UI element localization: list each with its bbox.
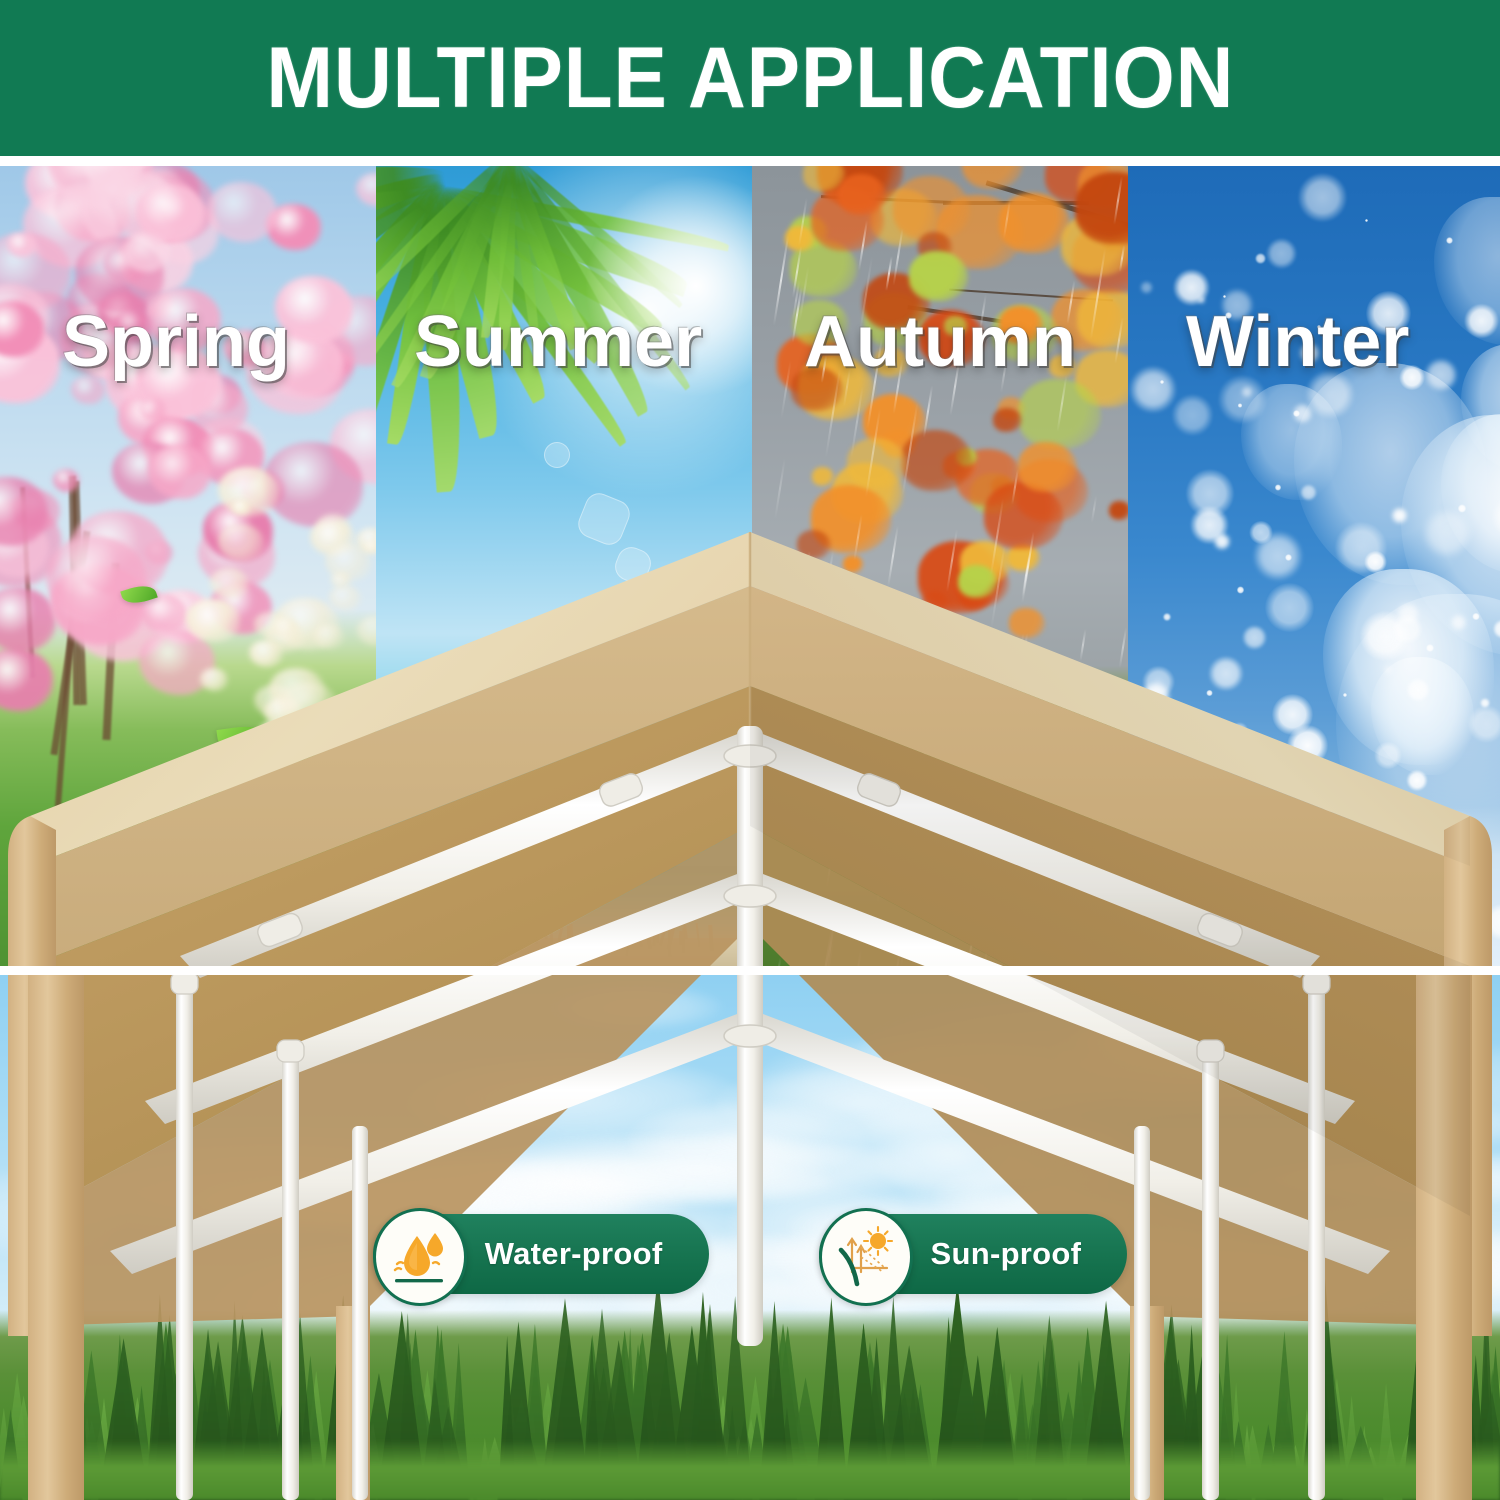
season-panel-summer: Summer: [376, 166, 752, 972]
blossom-cluster: [148, 445, 211, 498]
maple-leaf-cluster: [812, 467, 834, 485]
snow-bokeh: [1392, 614, 1422, 644]
blossom-cluster: [7, 233, 36, 257]
cloud: [824, 1102, 1070, 1199]
season-label-spring: Spring: [62, 306, 290, 378]
beach-post: [679, 931, 682, 945]
feature-badge-water-proof[interactable]: Water-proof: [373, 1208, 709, 1300]
blossom-cluster: [46, 536, 146, 621]
blossom-cluster-white: [329, 585, 361, 611]
blossom-cluster-white: [313, 729, 360, 766]
header-banner: MULTIPLE APPLICATION: [0, 0, 1500, 156]
snow-bokeh: [1129, 366, 1177, 414]
snow-bokeh: [1186, 469, 1235, 518]
snow-bokeh: [1298, 173, 1347, 222]
feature-badges: Water-proof: [0, 1196, 1500, 1312]
snow-bokeh: [1301, 808, 1316, 823]
snow-flake: [1472, 613, 1479, 620]
blossom-cluster-white: [325, 543, 372, 581]
season-panel-winter: Winter: [1128, 166, 1500, 972]
maple-leaf-cluster: [909, 251, 968, 301]
snow-flake: [1157, 860, 1162, 865]
sun-ray-shield-icon: [819, 1208, 913, 1306]
maple-leaf-cluster: [838, 174, 886, 215]
beach-post: [550, 929, 554, 949]
maple-leaf-cluster: [797, 530, 831, 559]
scene-divider: [0, 966, 1500, 975]
snow-bokeh: [1140, 281, 1152, 293]
snow-bokeh: [1300, 484, 1317, 501]
feature-badge-sun-proof[interactable]: Sun-proof: [819, 1208, 1128, 1300]
blossom-cluster-white: [232, 500, 250, 515]
snow-bokeh: [1231, 722, 1248, 739]
snow-bokeh: [1464, 304, 1498, 338]
snow-bokeh: [1422, 508, 1472, 558]
snow-flake: [1458, 504, 1467, 513]
snow-flake: [1323, 807, 1331, 815]
season-label-autumn: Autumn: [804, 306, 1076, 378]
maple-leaf-cluster: [847, 438, 906, 488]
snow-bokeh: [1163, 613, 1171, 621]
snow-bokeh: [1141, 681, 1171, 711]
blossom-cluster-white: [210, 568, 249, 599]
snow-bokeh: [1208, 656, 1244, 692]
snow-bokeh: [1327, 841, 1378, 892]
tropical-sea: [376, 866, 752, 944]
snow-bokeh: [1391, 507, 1408, 524]
snow-flake: [1285, 554, 1291, 560]
blossom-cluster: [139, 398, 165, 420]
maple-leaf-cluster: [923, 591, 948, 612]
cloud: [1073, 1012, 1238, 1062]
blossom-cluster-white: [279, 793, 304, 813]
snow-flake: [1275, 484, 1282, 491]
snow-bokeh: [1333, 822, 1340, 829]
snow-bokeh: [1434, 828, 1465, 859]
snow-bokeh: [1188, 738, 1231, 781]
snow-bokeh: [1468, 705, 1500, 742]
snow-bokeh: [1406, 770, 1428, 792]
grass-band: [0, 1440, 1500, 1500]
maple-leaf-cluster: [1109, 501, 1128, 520]
snow-flake: [1206, 690, 1212, 696]
water-drop-icon: [373, 1208, 467, 1306]
snow-bokeh: [1154, 890, 1185, 921]
cloud: [550, 984, 722, 1030]
snow-bokeh: [1172, 394, 1214, 436]
snow-flake: [1426, 644, 1434, 652]
autumn-grass: [752, 726, 1128, 972]
snow-bokeh: [1242, 625, 1267, 650]
snow-bokeh: [1383, 665, 1392, 674]
beach-post: [567, 926, 571, 953]
snow-bokeh: [1213, 533, 1231, 551]
water-proof-label: Water-proof: [485, 1236, 663, 1272]
page-title: MULTIPLE APPLICATION: [266, 35, 1234, 121]
season-strip: Spring Summer Autumn Winter: [0, 166, 1500, 972]
snow-bokeh: [1151, 848, 1192, 889]
forest-treeline: [0, 1310, 1500, 1500]
snow-bokeh: [1287, 725, 1328, 766]
sun-proof-label: Sun-proof: [931, 1236, 1082, 1272]
snow-bokeh: [1406, 678, 1430, 702]
snow-bokeh: [1255, 253, 1266, 264]
season-label-winter: Winter: [1186, 306, 1409, 378]
blossom-cluster-white: [218, 524, 264, 561]
season-panel-autumn: Autumn: [752, 166, 1128, 972]
snow-bokeh: [1364, 551, 1387, 574]
season-label-summer: Summer: [414, 306, 702, 378]
season-panel-spring: Spring: [0, 166, 376, 972]
beach-post: [624, 926, 628, 942]
snow-flake: [1363, 936, 1369, 942]
snow-bokeh: [1424, 358, 1457, 391]
snow-bokeh: [1451, 860, 1464, 873]
snow-flake: [1343, 693, 1347, 697]
snow-bokeh: [1249, 521, 1272, 544]
blossom-cluster: [123, 234, 168, 272]
snow-flake: [1180, 803, 1187, 810]
snow-flake: [1254, 928, 1262, 936]
blossom-cluster-white: [200, 668, 228, 691]
snow-flake: [1406, 901, 1414, 909]
banner-gap: [0, 156, 1500, 166]
product-marketing-image: MULTIPLE APPLICATION Spring Summer Autum…: [0, 0, 1500, 1500]
blossom-cluster: [53, 469, 80, 492]
snow-bokeh: [1374, 742, 1402, 770]
maple-leaf-cluster: [993, 408, 1022, 432]
